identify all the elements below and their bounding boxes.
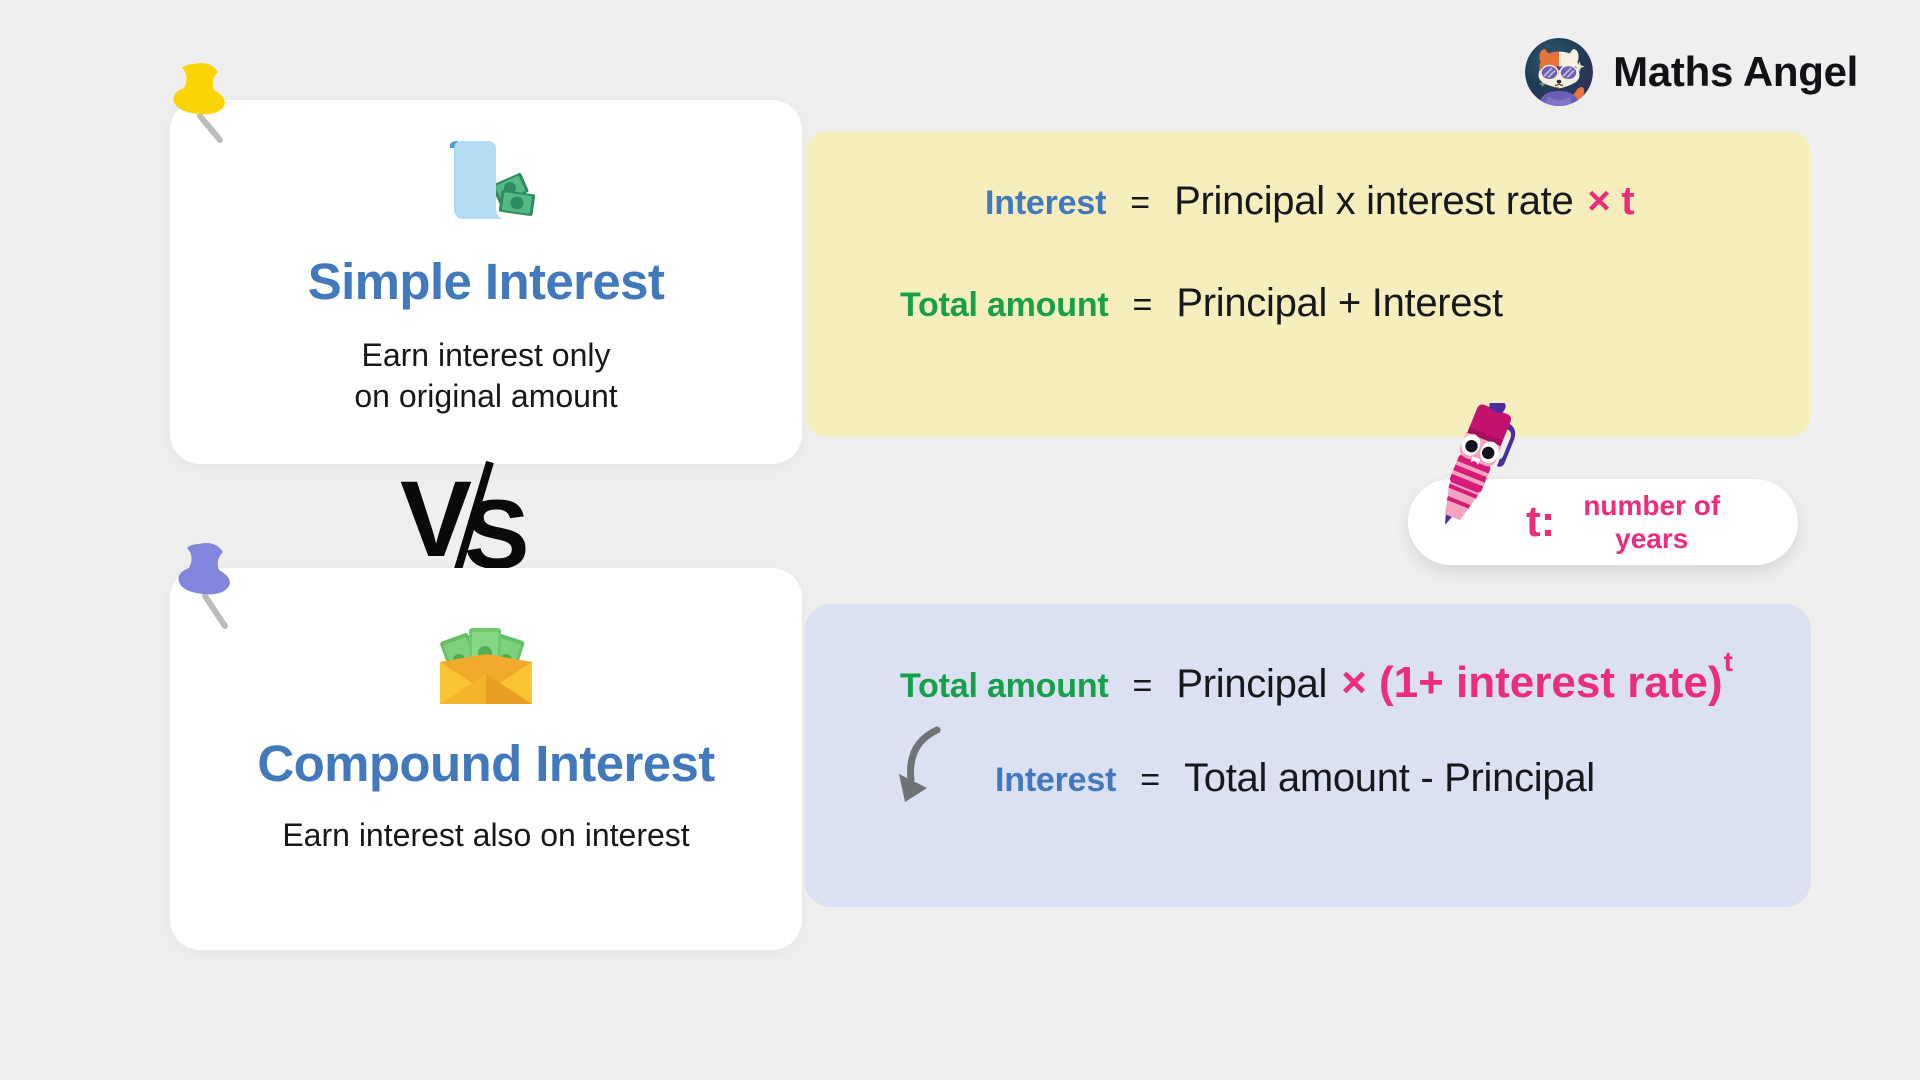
equation-expression: Principal — [1176, 662, 1327, 707]
equation-label: Interest — [985, 184, 1106, 223]
legend-definition-line: number of — [1583, 489, 1720, 522]
equation-label: Interest — [995, 761, 1116, 800]
card-subtitle-line: on original amount — [354, 376, 617, 417]
equals-sign: = — [1133, 667, 1153, 706]
brand-header: Maths Angel — [1525, 38, 1858, 106]
formula-panel-simple: Interest = Principal x interest rate × t… — [805, 131, 1811, 437]
card-subtitle-simple: Earn interest only on original amount — [354, 335, 617, 416]
equation-expression: Principal + Interest — [1176, 281, 1502, 326]
pink-pen-character-icon — [1420, 403, 1524, 535]
equals-sign: = — [1140, 761, 1160, 800]
equation-row: Interest = Total amount - Principal — [995, 756, 1595, 801]
card-title-simple: Simple Interest — [308, 252, 665, 311]
versus-slash-icon: V S — [398, 460, 548, 578]
equation-label: Total amount — [900, 286, 1109, 325]
fox-mascot-sunglasses-icon — [1525, 38, 1593, 106]
legend-definition-line: years — [1583, 522, 1720, 555]
formula-panel-compound: Total amount = Principal × (1+ interest … — [805, 604, 1811, 907]
legend-definition: number of years — [1583, 489, 1720, 555]
card-simple-interest[interactable]: Simple Interest Earn interest only on or… — [170, 100, 802, 464]
equation-expression-accent: × (1+ interest rate) — [1341, 658, 1723, 708]
pushpin-yellow-icon — [158, 58, 246, 154]
infographic-canvas: Maths Angel Simple Interest Earn interes… — [0, 0, 1920, 1080]
pushpin-purple-icon — [163, 538, 251, 634]
equation-row: Total amount = Principal × (1+ interest … — [900, 658, 1732, 708]
receipt-with-money-icon — [432, 134, 540, 230]
equation-expression: Principal x interest rate — [1174, 179, 1573, 224]
equation-expression: Total amount - Principal — [1184, 756, 1595, 801]
legend-symbol: t: — [1526, 500, 1555, 544]
card-subtitle-compound: Earn interest also on interest — [282, 815, 689, 856]
card-title-compound: Compound Interest — [257, 734, 714, 793]
equation-row: Total amount = Principal + Interest — [900, 281, 1503, 326]
equals-sign: = — [1130, 184, 1150, 223]
card-compound-interest[interactable]: Compound Interest Earn interest also on … — [170, 568, 802, 950]
equation-expression-accent: × t — [1587, 179, 1634, 224]
equation-exponent: t — [1724, 646, 1733, 678]
brand-name: Maths Angel — [1613, 48, 1858, 96]
card-subtitle-line: Earn interest only — [354, 335, 617, 376]
curved-down-arrow-icon — [893, 726, 963, 812]
equals-sign: = — [1133, 286, 1153, 325]
equation-row: Interest = Principal x interest rate × t — [985, 179, 1634, 224]
money-envelope-icon — [434, 620, 538, 708]
equation-label: Total amount — [900, 667, 1109, 706]
